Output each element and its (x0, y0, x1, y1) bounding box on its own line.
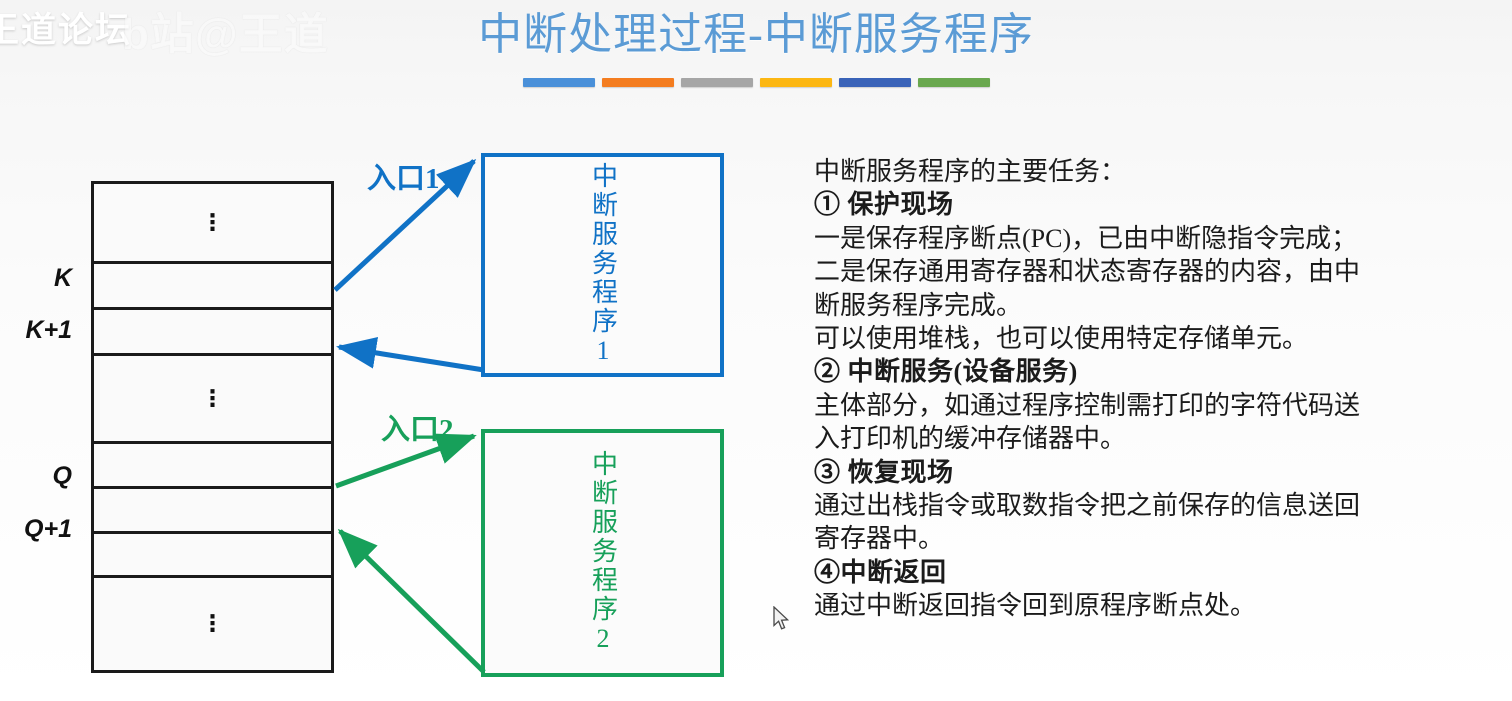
explanation-line-3: 二是保存通用寄存器和状态寄存器的内容，由中 (814, 255, 1474, 288)
explanation-line-2: 一是保存程序断点(PC)，已由中断隐指令完成； (814, 222, 1474, 255)
isr1-label-text: 中断服务程序1 (588, 162, 618, 368)
rule-segment-2 (602, 78, 674, 87)
page-title: 中断处理过程-中断服务程序 (0, 6, 1512, 64)
explanation-line-9: ③ 恢复现场 (814, 456, 1474, 489)
mouse-pointer-icon (773, 606, 790, 631)
memory-row-k (94, 264, 331, 310)
explanation-heading: 中断服务程序的主要任务： (814, 155, 1474, 188)
explanation-text-block: 中断服务程序的主要任务： ① 保护现场 一是保存程序断点(PC)，已由中断隐指令… (814, 155, 1474, 623)
explanation-line-8: 入打印机的缓冲存储器中。 (814, 422, 1474, 455)
memory-row-upper-program: ⋮ (94, 184, 331, 264)
memory-row-middle-program: ⋮ (94, 356, 331, 444)
rule-segment-4 (760, 78, 832, 87)
explanation-line-5: 可以使用堆栈，也可以使用特定存储单元。 (814, 322, 1474, 355)
entry-point-1-label: 入口1 (367, 155, 440, 197)
explanation-line-10: 通过出栈指令或取数指令把之前保存的信息送回 (814, 489, 1474, 522)
memory-row-k-plus-1 (94, 310, 331, 356)
arrow-isr1-return-to-k-plus-1 (339, 347, 484, 370)
main-program-memory-table: ⋮ ⋮ ⋮ (91, 181, 334, 673)
address-label-q-plus-1: Q+1 (10, 515, 72, 544)
address-label-k: K (10, 264, 72, 293)
address-label-k-plus-1: K+1 (10, 316, 72, 345)
rule-segment-6 (918, 78, 990, 87)
explanation-line-11: 寄存器中。 (814, 522, 1474, 555)
memory-row-q (94, 444, 331, 489)
isr2-vertical-label: 中断服务程序2 (485, 433, 720, 673)
explanation-line-12: ④中断返回 (814, 556, 1474, 589)
memory-row-blank (94, 534, 331, 578)
explanation-line-7: 主体部分，如通过程序控制需打印的字符代码送 (814, 389, 1474, 422)
isr2-label-text: 中断服务程序2 (588, 450, 618, 656)
memory-row-lower-program: ⋮ (94, 578, 331, 670)
slide-canvas: 王道论坛 b站@王道 中断处理过程-中断服务程序 K K+1 Q Q+1 ⋮ ⋮… (0, 0, 1512, 701)
rule-segment-3 (681, 78, 753, 87)
explanation-line-6: ② 中断服务(设备服务) (814, 355, 1474, 388)
isr1-vertical-label: 中断服务程序1 (485, 157, 720, 373)
explanation-line-1: ① 保护现场 (814, 188, 1474, 221)
rule-segment-1 (523, 78, 595, 87)
title-underline-bars (0, 78, 1512, 87)
entry-point-2-label: 入口2 (381, 406, 454, 448)
arrow-isr2-return-to-q-plus-1 (340, 531, 484, 672)
interrupt-service-routine-2-box: 中断服务程序2 (481, 429, 724, 677)
address-label-q: Q (10, 462, 72, 491)
interrupt-service-routine-1-box: 中断服务程序1 (481, 153, 724, 377)
explanation-line-13: 通过中断返回指令回到原程序断点处。 (814, 589, 1474, 622)
memory-row-q-plus-1 (94, 489, 331, 534)
explanation-line-4: 断服务程序完成。 (814, 289, 1474, 322)
rule-segment-5 (839, 78, 911, 87)
